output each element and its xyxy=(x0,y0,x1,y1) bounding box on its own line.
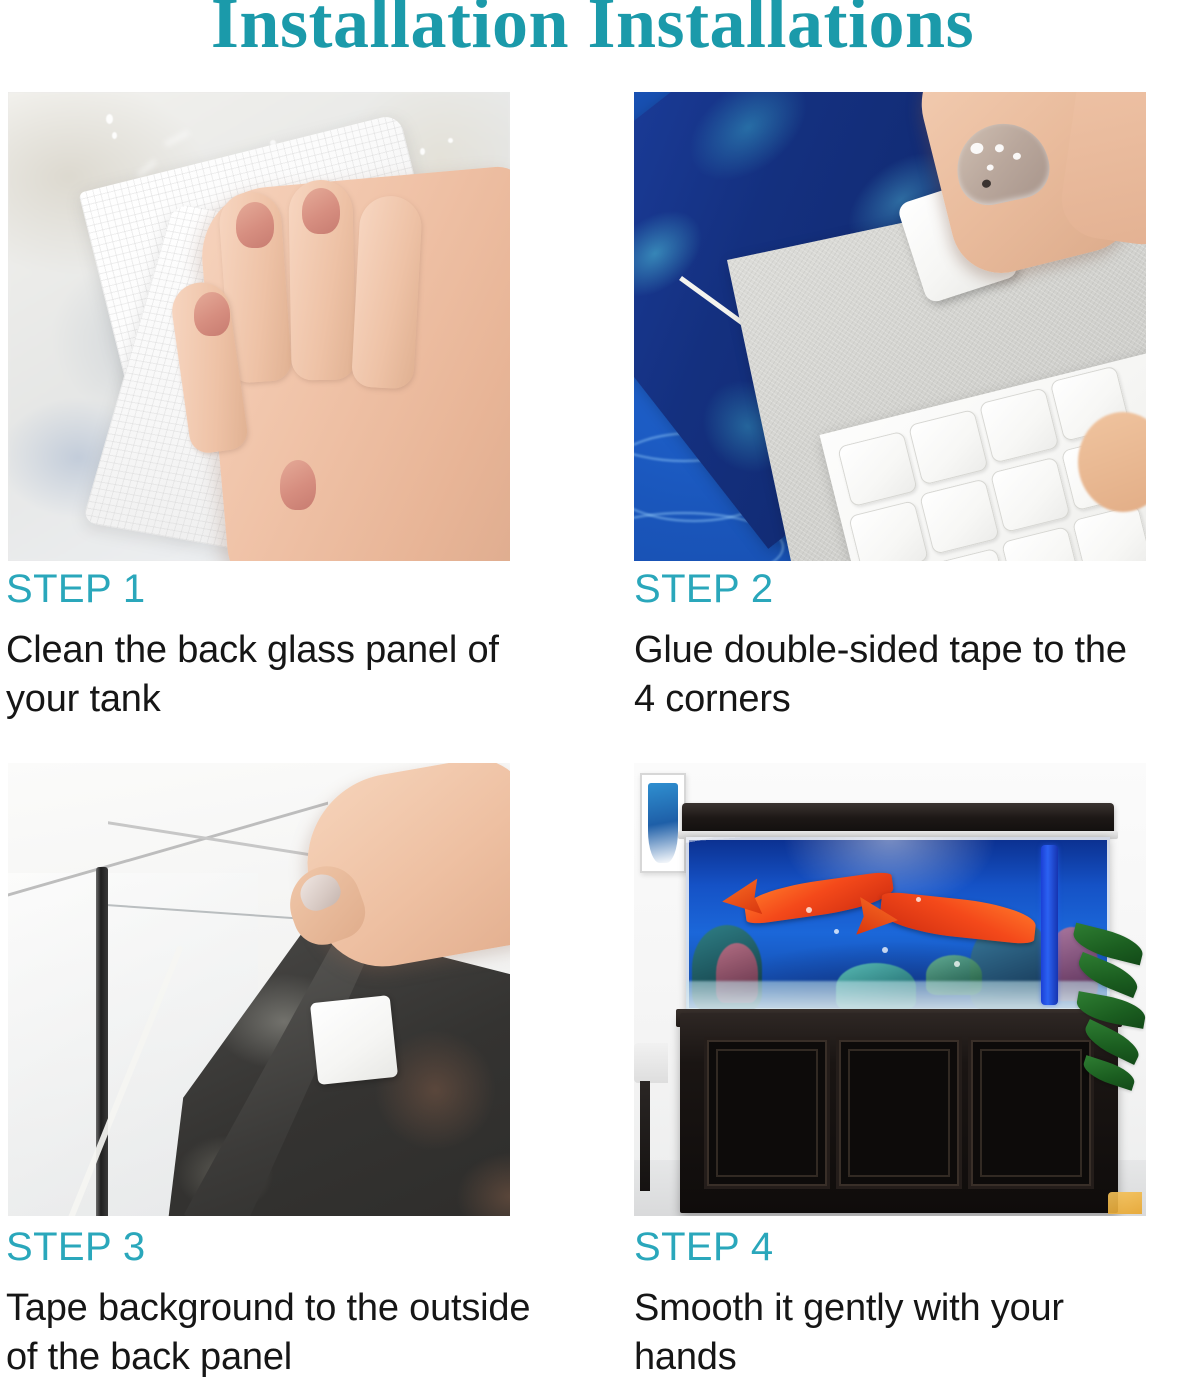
framed-blue-artwork xyxy=(648,783,678,863)
side-table xyxy=(634,1043,668,1083)
photo-finished-aquarium xyxy=(634,763,1146,1216)
floor-corner-accent xyxy=(1108,1192,1142,1214)
step-3-description: Tape background to the outside of the ba… xyxy=(6,1284,536,1383)
fingernail xyxy=(194,292,230,336)
nail-sparkle xyxy=(969,142,984,155)
tape-square xyxy=(908,409,989,486)
nail-sparkle xyxy=(986,164,994,171)
steps-grid: STEP 1 Clean the back glass panel of you… xyxy=(0,86,1185,1398)
photo-clean-glass xyxy=(8,92,510,561)
bubble xyxy=(916,897,921,902)
page-title-band: Installation Installations xyxy=(0,0,1185,86)
tank-black-corner-trim xyxy=(96,867,108,1216)
step-2-image xyxy=(634,92,1146,561)
water-droplet xyxy=(420,148,425,155)
step-3-image xyxy=(8,763,510,1216)
cabinet-door-center xyxy=(836,1037,962,1189)
fingernail xyxy=(280,460,316,510)
cabinet-door-left xyxy=(704,1037,830,1189)
bubble xyxy=(954,961,960,967)
tape-square xyxy=(1001,526,1082,561)
step-4-caption: STEP 4 Smooth it gently with your hands xyxy=(634,1226,1164,1383)
tape-square xyxy=(979,387,1060,464)
wall-picture-frame xyxy=(640,773,686,873)
installation-instructions-page: Installation Installations xyxy=(0,0,1185,1398)
tape-square xyxy=(1072,504,1146,561)
fingernail xyxy=(236,202,274,248)
side-table-leg xyxy=(640,1081,650,1191)
photo-apply-tape xyxy=(634,92,1146,561)
nail-dot-dark xyxy=(981,179,991,189)
step-1-image xyxy=(8,92,510,561)
tape-square-on-poster xyxy=(310,995,398,1085)
bubble xyxy=(806,907,812,913)
aquarium-cabinet-stand xyxy=(680,1013,1118,1213)
aquarium-tank xyxy=(686,837,1110,1011)
step-1-caption: STEP 1 Clean the back glass panel of you… xyxy=(6,568,526,725)
tape-square xyxy=(837,431,918,508)
fingernail xyxy=(302,188,340,234)
step-1-label: STEP 1 xyxy=(6,568,526,610)
ring-finger xyxy=(351,195,423,390)
photo-tape-to-tank xyxy=(8,763,510,1216)
tape-square xyxy=(990,456,1071,533)
step-2-description: Glue double-sided tape to the 4 corners xyxy=(634,626,1154,725)
step-2-label: STEP 2 xyxy=(634,568,1154,610)
nail-sparkle xyxy=(994,143,1004,153)
step-3-caption: STEP 3 Tape background to the outside of… xyxy=(6,1226,536,1383)
tape-square xyxy=(919,478,1000,555)
nail-sparkle xyxy=(1012,152,1021,161)
step-4-label: STEP 4 xyxy=(634,1226,1164,1268)
step-1-description: Clean the back glass panel of your tank xyxy=(6,626,526,725)
aquarium-bubble-tube xyxy=(1041,845,1058,1005)
tape-square xyxy=(848,500,929,561)
water-droplet xyxy=(448,138,453,143)
aquarium-hood xyxy=(682,803,1114,833)
step-2-caption: STEP 2 Glue double-sided tape to the 4 c… xyxy=(634,568,1154,725)
water-droplet xyxy=(106,114,113,124)
page-title: Installation Installations xyxy=(0,0,1185,65)
bubble xyxy=(834,929,839,934)
step-4-image xyxy=(634,763,1146,1216)
step-4-description: Smooth it gently with your hands xyxy=(634,1284,1164,1383)
bubble xyxy=(882,947,888,953)
cabinet-door-right xyxy=(968,1037,1094,1189)
step-3-label: STEP 3 xyxy=(6,1226,536,1268)
water-droplet xyxy=(112,132,117,139)
